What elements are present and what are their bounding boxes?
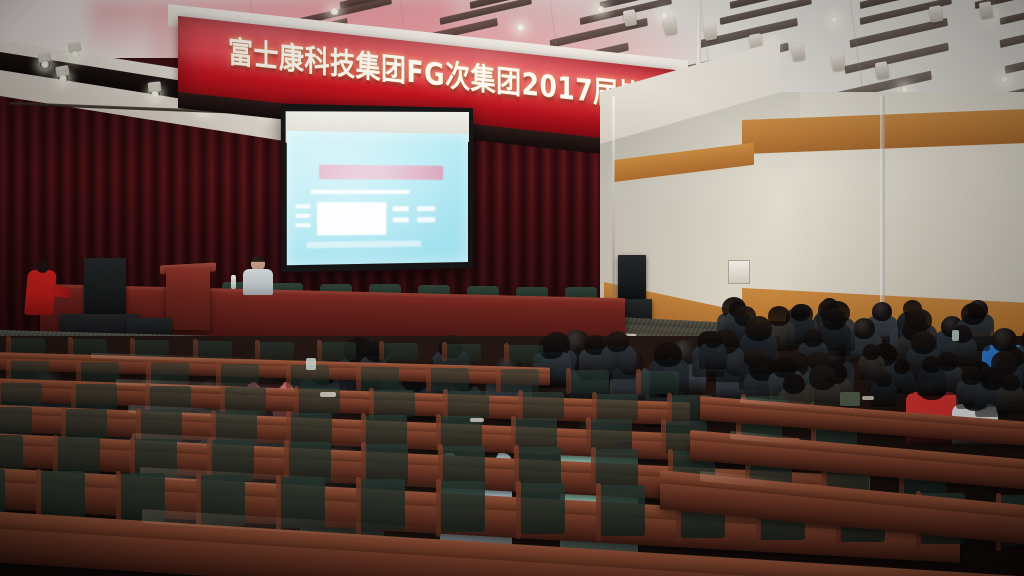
audience-seat-back [75,384,117,411]
audience-seat-back [518,447,561,488]
audience-seat-back [600,485,645,536]
audience-seat-back [373,390,415,417]
audience-seat-back [259,342,294,360]
audience-seat-back [200,475,245,526]
audience-seat-back [224,387,266,414]
audience-seat-frame [516,481,521,539]
audience-seat-frame [356,365,361,391]
audience-seat-back [500,369,539,392]
audience-seat-back [220,364,259,387]
audience-seat-frame [661,419,666,456]
paper-sheet [470,418,484,422]
audience-seat-back [520,483,565,534]
audience-seat-back [360,479,405,530]
audience-seat-back [522,392,564,419]
audience-seat-back [595,449,638,490]
audience-seat-frame [667,393,672,424]
audience-seat-back [590,419,632,452]
audience-seat-frame [317,340,322,360]
audience-seat-frame [379,341,384,361]
audience-seat-frame [216,362,221,388]
phone [614,442,632,447]
audience-seat-frame [496,367,501,393]
audience-seat-frame [636,369,641,395]
audience-seat-frame [566,368,571,394]
water-bottle [952,330,959,341]
audience-seat-back [197,341,232,359]
audience-seat-back [596,394,638,421]
audience-seat-frame [504,343,509,363]
audience-seat-back [360,367,399,390]
audience-seat-frame [193,339,198,359]
audience-seat-frame [276,475,281,533]
audience-seat-back [383,343,418,361]
handbag [840,392,860,406]
audience-seat-frame [426,366,431,392]
audience-seat-frame [436,479,441,537]
audience-seat-back [447,391,489,418]
paper-sheet [862,396,874,400]
audience-seat-back [508,345,543,363]
audience-seat-back [321,342,356,360]
audience-seat-back [149,386,191,413]
audience-seat-back [280,477,325,528]
water-bottle [306,358,316,370]
audience-seat-back [640,371,679,394]
audience-seat-back [150,363,189,386]
audience-seat-frame [356,477,361,535]
audience-seat-frame [255,340,260,360]
paper-sheet [320,392,336,397]
audience-seat-frame [518,390,523,421]
audience-seat-frame [442,342,447,362]
auditorium-photo: 富士康科技集团FG次集团2017届毕业生校园招聘会 [0,0,1024,576]
audience-seat-back [570,370,609,393]
audience-seat-back [440,481,485,532]
audience-seat-frame [196,473,201,531]
audience-seat-frame [596,483,601,541]
audience-seat-back [430,368,469,391]
desk-row-layer [0,0,1024,576]
audience-seat-back [120,473,165,524]
audience-seat-back [446,344,481,362]
audience-seat-frame [286,363,291,389]
